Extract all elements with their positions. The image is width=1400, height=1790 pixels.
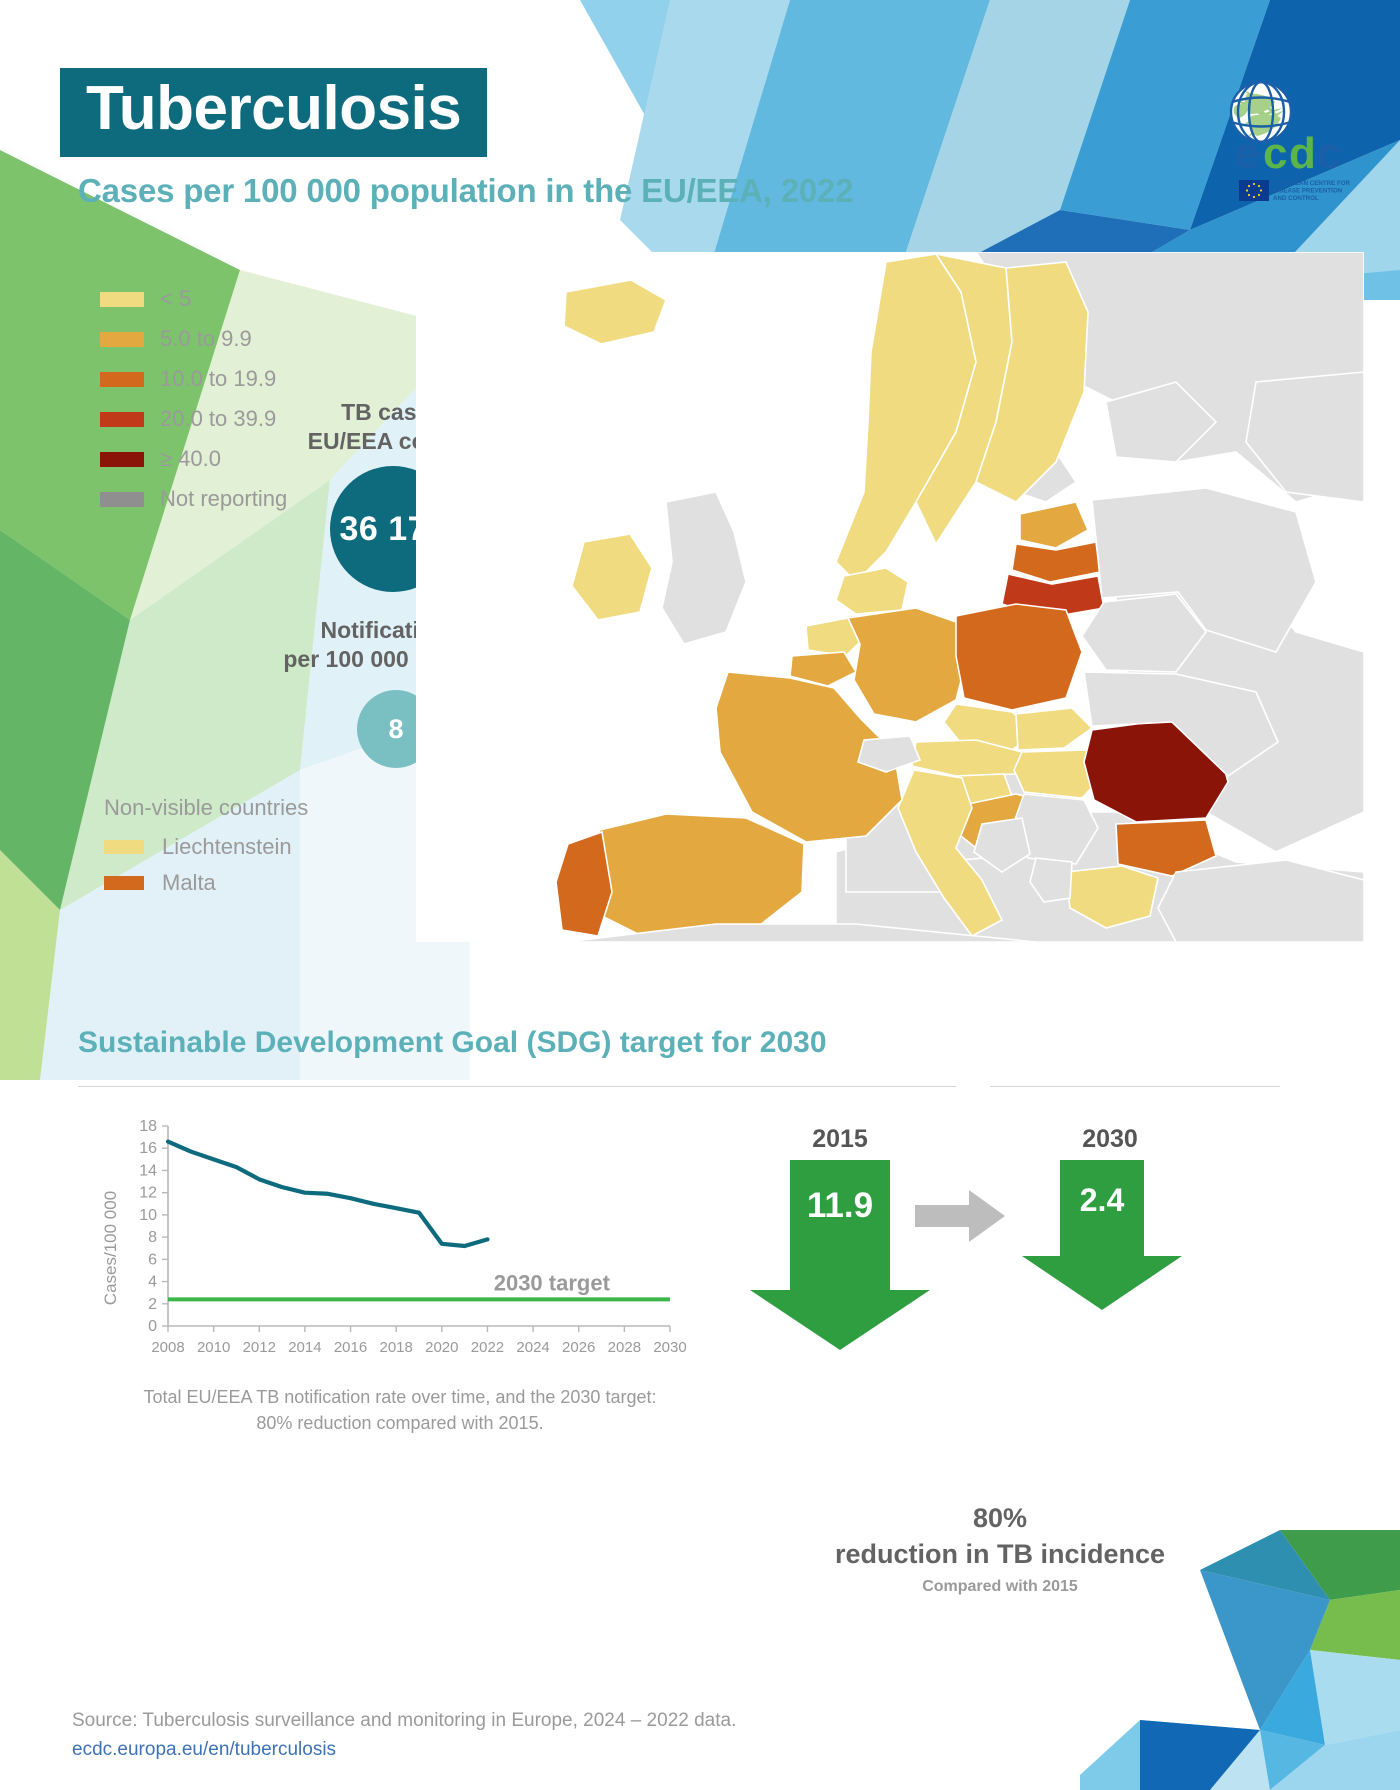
map-legend: < 5 5.0 to 9.9 10.0 to 19.9 20.0 to 39.9… [100, 282, 287, 522]
chart-ylabel: Cases/100 000 [101, 1191, 120, 1305]
legend-item-1: 5.0 to 9.9 [100, 322, 287, 356]
svg-text:4: 4 [148, 1274, 157, 1291]
ecdc-strapline-1: EUROPEAN CENTRE FOR [1273, 180, 1351, 187]
legend-swatch-2 [100, 372, 144, 387]
svg-text:10: 10 [139, 1207, 157, 1224]
reduction-headline: 80% reduction in TB incidence [800, 1500, 1200, 1573]
svg-text:8: 8 [148, 1229, 157, 1246]
arrow-2015-down: 11.9 [750, 1160, 930, 1350]
page-title-band: Tuberculosis [60, 68, 487, 157]
arrow-2030-year-label: 2030 [1000, 1125, 1220, 1154]
page-title: Tuberculosis [86, 76, 461, 141]
right-arrow-icon [915, 1190, 1005, 1242]
chart-caption-line1: Total EU/EEA TB notification rate over t… [110, 1384, 690, 1410]
chart-caption: Total EU/EEA TB notification rate over t… [110, 1384, 690, 1436]
ecdc-wordmark: e c d c [1235, 129, 1341, 178]
ecdc-strapline-3: AND CONTROL [1273, 195, 1319, 202]
svg-text:2030: 2030 [653, 1339, 686, 1356]
svg-text:16: 16 [139, 1140, 157, 1157]
ecdc-strapline-2: DISEASE PREVENTION [1273, 188, 1343, 195]
country-denmark [836, 568, 908, 614]
arrow-2030-down: 2.4 [1022, 1160, 1182, 1310]
svg-text:e: e [1235, 129, 1259, 178]
svg-text:c: c [1263, 129, 1287, 178]
country-poland [956, 604, 1082, 710]
legend-swatch-4 [100, 452, 144, 467]
legend-label-0: < 5 [160, 288, 191, 310]
svg-text:18: 18 [139, 1118, 157, 1135]
svg-text:c: c [1317, 129, 1341, 178]
chart-target-annotation: 2030 target [494, 1270, 611, 1295]
legend-item-2: 10.0 to 19.9 [100, 362, 287, 396]
legend-item-4: ≥ 40.0 [100, 442, 287, 476]
legend-label-3: 20.0 to 39.9 [160, 408, 276, 430]
non-visible-item-1: Malta [104, 867, 308, 899]
chart-caption-line2: 80% reduction compared with 2015. [110, 1410, 690, 1436]
legend-label-4: ≥ 40.0 [160, 448, 221, 470]
svg-text:12: 12 [139, 1185, 157, 1202]
svg-text:14: 14 [139, 1162, 157, 1179]
svg-text:2024: 2024 [516, 1339, 549, 1356]
non-visible-countries: Non-visible countries Liechtenstein Malt… [104, 795, 308, 903]
svg-text:2018: 2018 [379, 1339, 412, 1356]
svg-text:2014: 2014 [288, 1339, 321, 1356]
legend-item-3: 20.0 to 39.9 [100, 402, 287, 436]
chart-x-ticks: 2008201020122014201620182020202220242026… [151, 1326, 686, 1356]
legend-item-0: < 5 [100, 282, 287, 316]
svg-text:d: d [1289, 129, 1316, 178]
arrow-2015-year-label: 2015 [720, 1125, 960, 1154]
europe-choropleth-map [416, 252, 1364, 942]
sdg-divider-left [78, 1086, 956, 1087]
svg-text:6: 6 [148, 1251, 157, 1268]
non-visible-swatch-0 [104, 840, 144, 854]
sdg-divider-right [990, 1086, 1280, 1087]
chart-y-ticks: 024681012141618 [139, 1118, 168, 1335]
chart-rate-line [168, 1142, 487, 1246]
svg-text:2008: 2008 [151, 1339, 184, 1356]
tb-notification-rate-chart: Cases/100 000 024681012141618 2008201020… [100, 1118, 700, 1378]
svg-text:2028: 2028 [608, 1339, 641, 1356]
source-link[interactable]: ecdc.europa.eu/en/tuberculosis [72, 1739, 336, 1761]
legend-label-5: Not reporting [160, 488, 287, 510]
non-visible-swatch-1 [104, 876, 144, 890]
svg-text:2026: 2026 [562, 1339, 595, 1356]
arrow-2030-value: 2.4 [1022, 1182, 1182, 1219]
legend-item-5: Not reporting [100, 482, 287, 516]
reduction-subtext: Compared with 2015 [800, 1578, 1200, 1596]
non-visible-heading: Non-visible countries [104, 795, 308, 821]
svg-text:2012: 2012 [243, 1339, 276, 1356]
notification-rate-value: 8 [388, 714, 403, 745]
svg-text:2020: 2020 [425, 1339, 458, 1356]
svg-text:2: 2 [148, 1296, 157, 1313]
legend-swatch-3 [100, 412, 144, 427]
eu-flag-icon [1239, 180, 1269, 201]
source-text: Source: Tuberculosis surveillance and mo… [72, 1710, 736, 1732]
legend-label-2: 10.0 to 19.9 [160, 368, 276, 390]
svg-text:0: 0 [148, 1318, 157, 1335]
non-visible-label-0: Liechtenstein [162, 836, 292, 858]
svg-text:2022: 2022 [471, 1339, 504, 1356]
page-subtitle: Cases per 100 000 population in the EU/E… [78, 172, 853, 210]
arrow-2015-value: 11.9 [750, 1186, 930, 1226]
svg-text:2016: 2016 [334, 1339, 367, 1356]
non-visible-label-1: Malta [162, 872, 216, 894]
reduction-percent: 80% [800, 1500, 1200, 1536]
reduction-text: reduction in TB incidence [800, 1536, 1200, 1572]
legend-swatch-1 [100, 332, 144, 347]
infographic-page: Tuberculosis Cases per 100 000 populatio… [0, 0, 1400, 1790]
legend-swatch-5 [100, 492, 144, 507]
sdg-section-title: Sustainable Development Goal (SDG) targe… [78, 1026, 827, 1060]
legend-swatch-0 [100, 292, 144, 307]
non-visible-item-0: Liechtenstein [104, 831, 308, 863]
legend-label-1: 5.0 to 9.9 [160, 328, 252, 350]
country-turkey [1158, 860, 1364, 942]
ecdc-logo: e c d c EUROPEAN CENTRE FOR DISEASE PREV… [1195, 76, 1375, 206]
svg-text:2010: 2010 [197, 1339, 230, 1356]
